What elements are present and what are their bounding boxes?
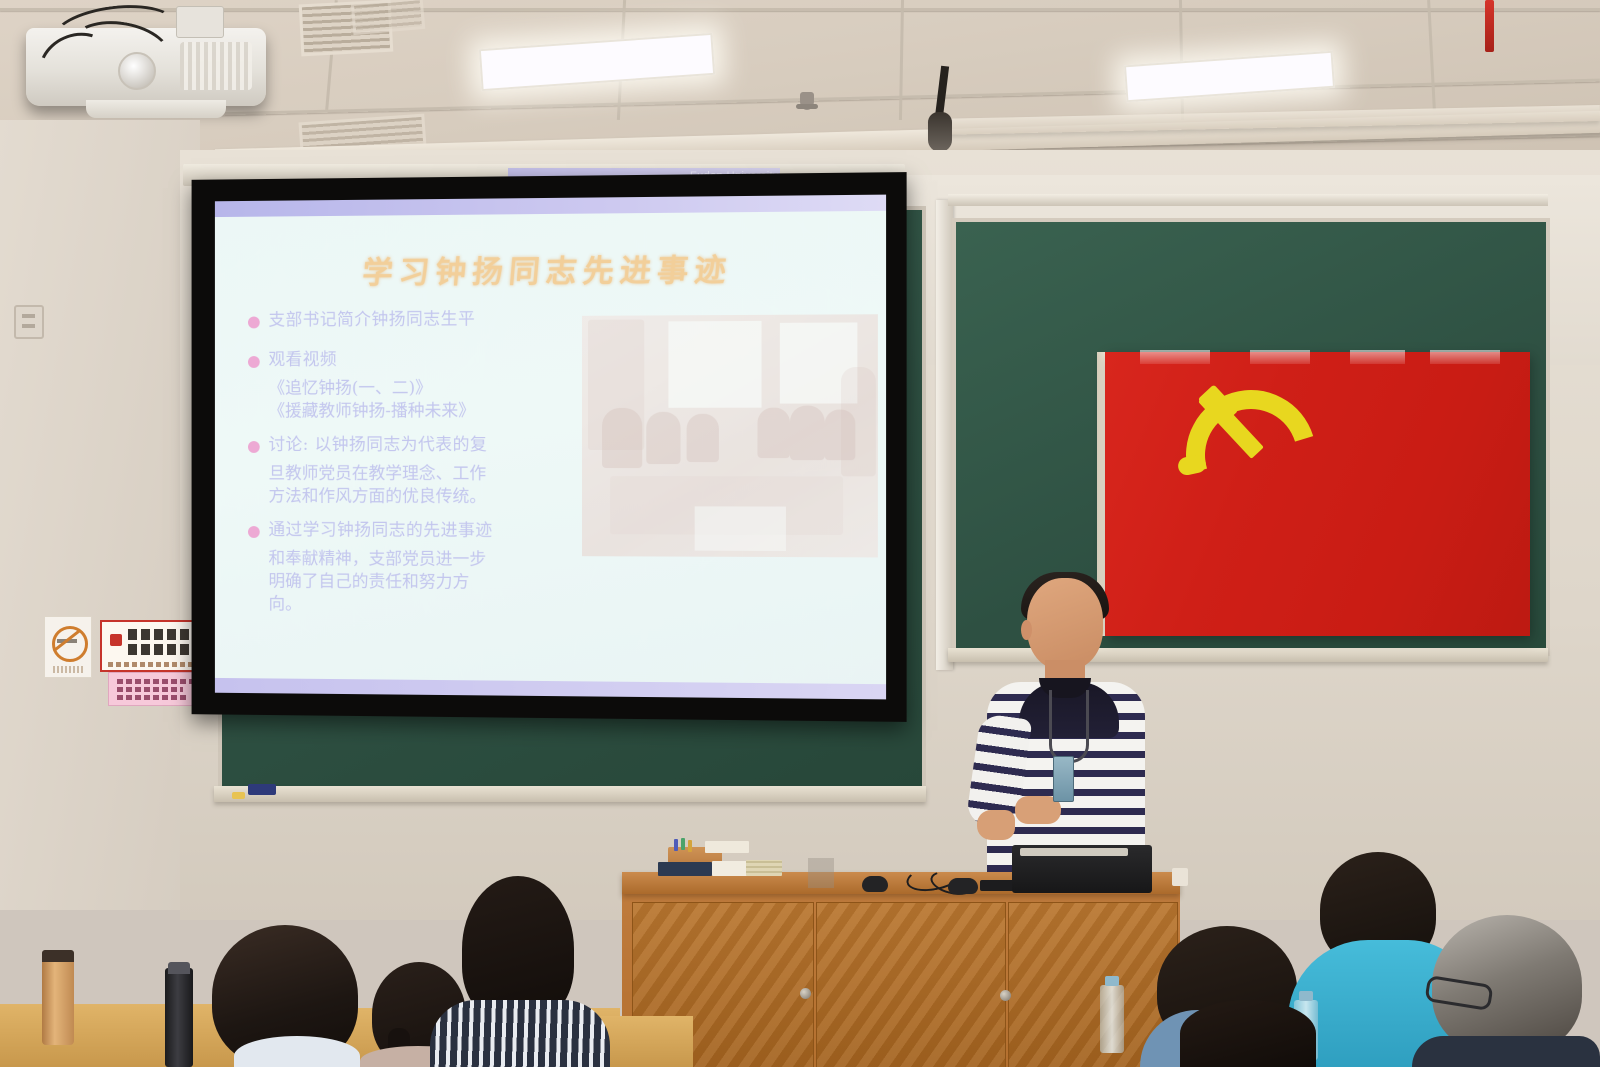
board-top-rail [948,194,1548,206]
slide-top-band [215,195,886,217]
list-item: 通过学习钟扬同志的先进事迹 和奉献精神，支部党员进一步 明确了自己的责任和努力方… [248,519,574,618]
photo-person [602,408,642,468]
list-item: 支部书记简介钟扬同志生平 [248,308,574,333]
desk-item [1172,868,1188,886]
slide-bottom-band [215,678,886,699]
classroom-scene: Fudan University 学习钟扬同志先进事迹 支部书记简介钟扬同志生平… [0,0,1600,1067]
pen-icon [681,838,685,850]
wall-outlet [14,305,44,339]
podium-door[interactable] [816,902,1006,1067]
slide-title: 学习钟扬同志先进事迹 [215,243,886,293]
bullet-text: 观看视频 [268,349,337,372]
slide-embedded-photo [582,314,878,557]
bullet-dot-icon [248,441,260,453]
no-smoking-icon [52,626,88,662]
flag-tape [1350,350,1405,364]
bullet-subline: 旦教师党员在教学理念、工作 [268,463,573,486]
podium-door-knob[interactable] [800,988,811,999]
bullet-text: 支部书记简介钟扬同志生平 [268,308,475,332]
slide-bullet-list: 支部书记简介钟扬同志生平 观看视频 《追忆钟扬(一、二)》 《援藏教师钟扬-播种… [248,308,574,618]
photo-papers [695,506,786,551]
flag-tape [1250,350,1310,364]
bullet-text: 讨论: 以钟扬同志为代表的复 [268,434,487,457]
paper-stack [746,860,782,876]
photo-window [668,321,761,408]
no-smoking-caption [53,666,83,673]
list-item: 讨论: 以钟扬同志为代表的复 旦教师党员在教学理念、工作 方法和作风方面的优良传… [248,434,574,509]
sprinkler-head [800,92,814,110]
photo-person [790,406,825,461]
pen-icon [674,839,678,851]
gold-thermos [42,950,74,1045]
attendee-head [1180,1000,1316,1067]
clear-water-bottle [1100,985,1124,1053]
ceiling-grid-line [0,8,1600,11]
bullet-subline: 方法和作风方面的优良传统。 [268,486,573,510]
flag-tape [1140,350,1210,364]
black-water-bottle [165,968,193,1067]
no-smoking-sign [44,616,92,678]
podium-door-knob[interactable] [1000,990,1011,1001]
hammer-and-sickle-icon [1178,388,1298,500]
id-badge [1053,756,1074,802]
cpc-flag [1105,352,1530,636]
list-item: 观看视频 《追忆钟扬(一、二)》 《援藏教师钟扬-播种未来》 [248,348,574,423]
lanyard [1049,690,1089,763]
blackboard-eraser [248,784,276,795]
presenter-left-hand [977,810,1015,840]
attendee-shoulders [1412,1036,1600,1067]
presenter-ear [1021,620,1032,640]
bullet-subline: 《追忆钟扬(一、二)》 [268,377,573,401]
audience-desk [598,1016,693,1067]
bullet-subline: 明确了自己的责任和努力方 [268,571,573,596]
photo-standing-person [841,367,876,476]
board-divider [936,200,953,670]
presenter-head [1027,578,1103,670]
monitor-bezel [1020,848,1128,856]
bullet-dot-icon [248,526,260,538]
alert-icon [110,634,122,646]
flag-tape [1430,350,1500,364]
photo-person [757,408,790,458]
bottle-cap [168,962,190,974]
bullet-dot-icon [248,316,260,328]
projector-foot [86,100,226,118]
bullet-subline: 和奉献精神，支部党员进一步 [268,548,573,572]
chalk-piece [232,792,245,799]
notice-line [117,679,195,684]
book-stack [705,841,749,853]
presenter [975,578,1150,878]
bullet-subline: 《援藏教师钟扬-播种未来》 [268,400,573,423]
red-ribbon-tag [1485,0,1494,52]
thermos-cap [42,950,74,962]
hanging-speaker-icon [928,112,952,152]
cable-coil [948,878,978,894]
book-stack [658,862,712,876]
pen-icon [688,840,692,852]
left-wall [0,120,200,910]
bullet-dot-icon [248,356,260,368]
chalk-tray [214,786,926,802]
attendee-shoulders [430,1000,610,1067]
presentation-slide: 学习钟扬同志先进事迹 支部书记简介钟扬同志生平 观看视频 《追忆钟扬(一、二)》… [215,195,886,700]
projector-vent-icon [180,42,252,90]
bullet-text: 通过学习钟扬同志的先进事迹 [268,519,492,543]
projector-mount [176,6,224,38]
bullet-subline: 向。 [268,593,573,618]
photo-person [687,414,719,462]
wall-panel [808,858,834,888]
photo-person [646,412,680,464]
mouse[interactable] [862,876,888,892]
notice-line [117,695,189,700]
projection-screen: 学习钟扬同志先进事迹 支部书记简介钟扬同志生平 观看视频 《追忆钟扬(一、二)》… [192,172,907,722]
notice-line [117,687,183,692]
